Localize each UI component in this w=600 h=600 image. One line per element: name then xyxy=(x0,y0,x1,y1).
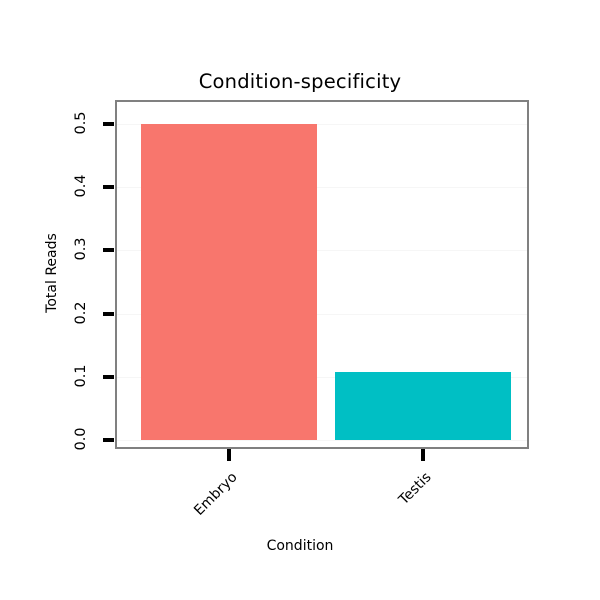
y-tick-mark xyxy=(103,312,114,316)
x-tick-mark xyxy=(227,449,231,461)
x-tick-label-testis: Testis xyxy=(310,469,434,593)
x-tick-mark xyxy=(421,449,425,461)
x-axis-title: Condition xyxy=(0,538,600,554)
y-tick-mark xyxy=(103,375,114,379)
plot-panel xyxy=(115,100,529,449)
y-tick-mark xyxy=(103,438,114,442)
bar-testis[interactable] xyxy=(335,372,511,440)
y-tick-label: 0.1 xyxy=(73,354,89,398)
chart-figure: Condition-specificity Total Reads 0.00.1… xyxy=(0,0,600,600)
bar-embryo[interactable] xyxy=(141,124,317,440)
y-tick-label: 0.0 xyxy=(73,417,89,461)
y-tick-label: 0.3 xyxy=(73,227,89,271)
x-tick-label-embryo: Embryo xyxy=(116,469,240,593)
gridline xyxy=(117,440,527,441)
y-tick-mark xyxy=(103,122,114,126)
y-tick-mark xyxy=(103,248,114,252)
chart-title: Condition-specificity xyxy=(0,70,600,93)
y-tick-label: 0.2 xyxy=(73,291,89,335)
y-tick-label: 0.5 xyxy=(73,101,89,145)
plot-area xyxy=(117,102,527,447)
y-tick-mark xyxy=(103,185,114,189)
y-tick-label: 0.4 xyxy=(73,164,89,208)
y-axis-title: Total Reads xyxy=(44,173,60,373)
